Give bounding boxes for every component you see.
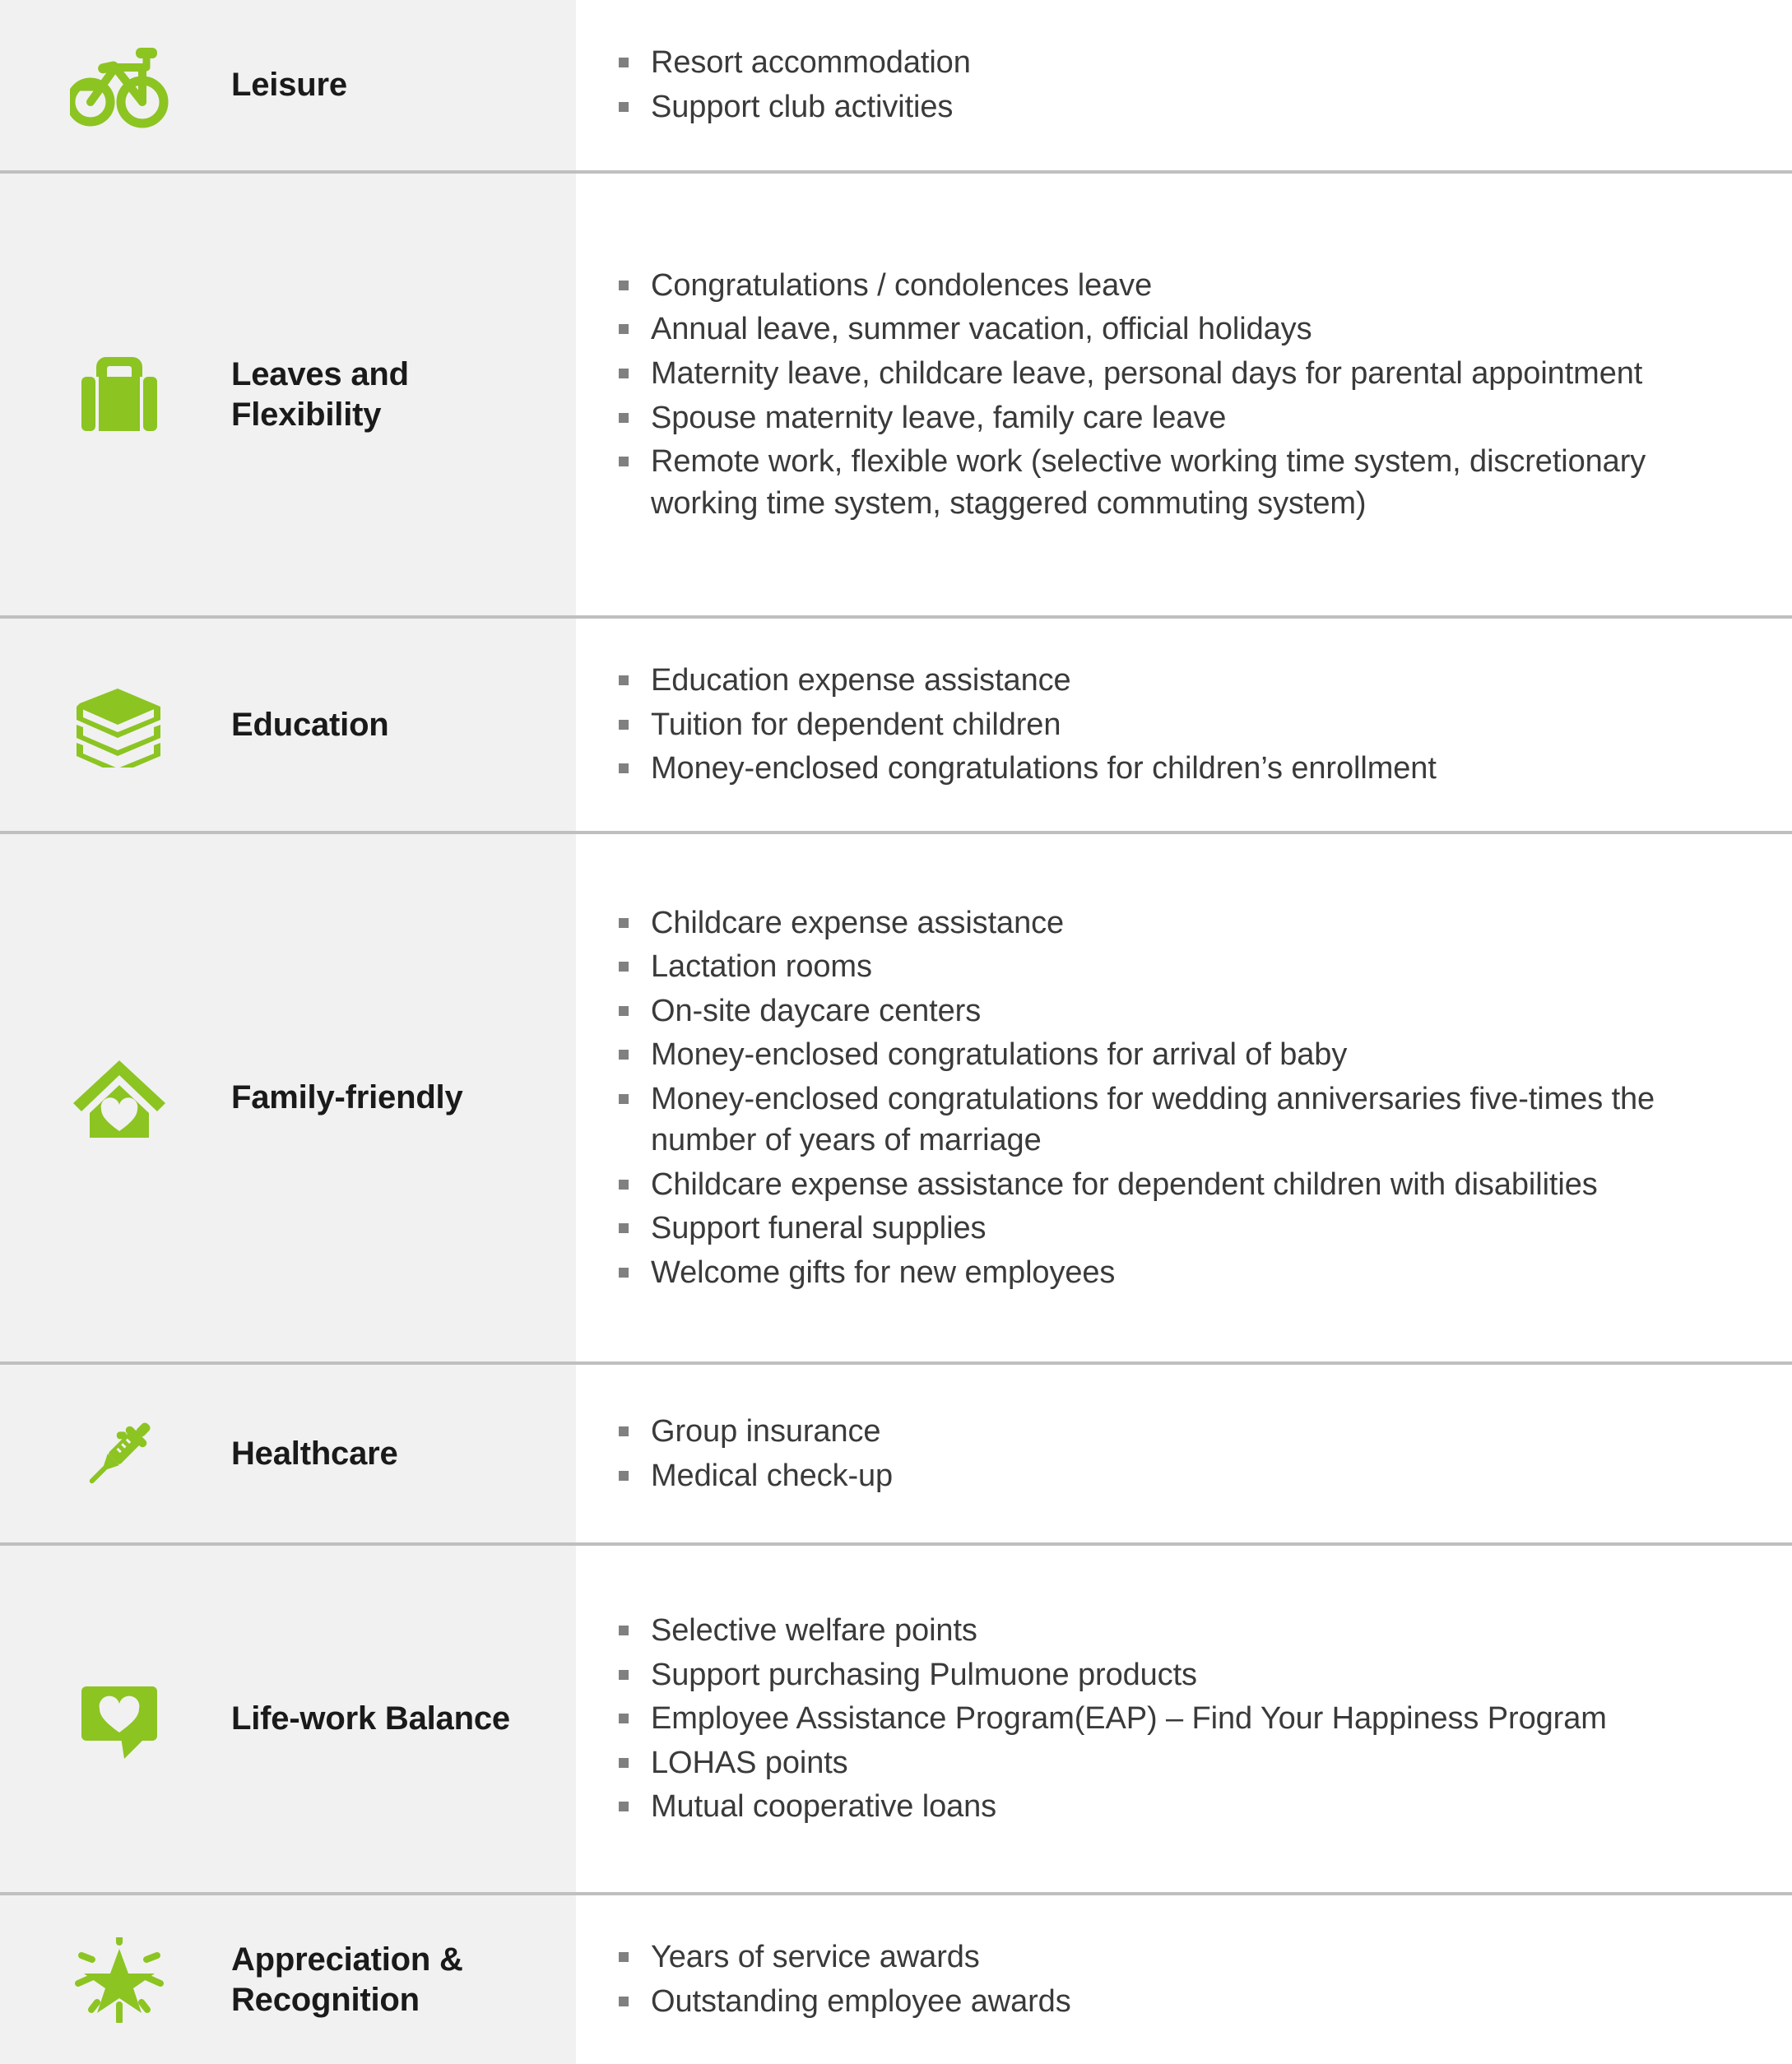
list-item: Annual leave, summer vacation, official … xyxy=(619,308,1759,350)
row-items-cell: Resort accommodation Support club activi… xyxy=(576,0,1792,170)
list-item: Employee Assistance Program(EAP) – Find … xyxy=(619,1698,1759,1740)
row-category-cell: Healthcare xyxy=(0,1365,576,1542)
list-item: Congratulations / condolences leave xyxy=(619,265,1759,307)
list-item: Support funeral supplies xyxy=(619,1208,1759,1250)
category-label: Leaves and Flexibility xyxy=(193,355,522,435)
row-items-cell: Group insurance Medical check-up xyxy=(576,1365,1792,1542)
category-label: Education xyxy=(193,705,389,745)
category-label: Healthcare xyxy=(193,1434,398,1474)
list-item: Maternity leave, childcare leave, person… xyxy=(619,353,1759,395)
list-item: Support purchasing Pulmuone products xyxy=(619,1654,1759,1696)
list-item: Spouse maternity leave, family care leav… xyxy=(619,397,1759,439)
list-item: Childcare expense assistance xyxy=(619,902,1759,944)
list-item: Selective welfare points xyxy=(619,1610,1759,1652)
list-item: Remote work, flexible work (selective wo… xyxy=(619,441,1759,524)
list-item: Medical check-up xyxy=(619,1455,1759,1497)
list-item: Group insurance xyxy=(619,1411,1759,1453)
table-row: Healthcare Group insurance Medical check… xyxy=(0,1365,1792,1546)
category-label: Life-work Balance xyxy=(193,1699,510,1739)
benefit-list: Childcare expense assistance Lactation r… xyxy=(619,902,1759,1294)
suitcase-icon xyxy=(45,352,193,438)
list-item: Outstanding employee awards xyxy=(619,1981,1759,2023)
speech-bubble-heart-icon xyxy=(45,1677,193,1762)
benefit-list: Resort accommodation Support club activi… xyxy=(619,42,1759,128)
benefit-list: Selective welfare points Support purchas… xyxy=(619,1610,1759,1828)
list-item: Resort accommodation xyxy=(619,42,1759,84)
list-item: Money-enclosed congratulations for weddi… xyxy=(619,1078,1759,1162)
benefit-list: Education expense assistance Tuition for… xyxy=(619,660,1759,790)
table-row: Life-work Balance Selective welfare poin… xyxy=(0,1546,1792,1895)
list-item: Tuition for dependent children xyxy=(619,704,1759,746)
row-category-cell: Life-work Balance xyxy=(0,1546,576,1892)
list-item: On-site daycare centers xyxy=(619,990,1759,1032)
row-category-cell: Family-friendly xyxy=(0,834,576,1361)
list-item: Mutual cooperative loans xyxy=(619,1786,1759,1828)
benefit-list: Group insurance Medical check-up xyxy=(619,1411,1759,1496)
benefit-list: Congratulations / condolences leave Annu… xyxy=(619,265,1759,524)
category-label: Leisure xyxy=(193,65,347,105)
row-items-cell: Selective welfare points Support purchas… xyxy=(576,1546,1792,1892)
books-icon xyxy=(45,682,193,768)
list-item: Welcome gifts for new employees xyxy=(619,1252,1759,1294)
row-items-cell: Education expense assistance Tuition for… xyxy=(576,619,1792,831)
row-items-cell: Childcare expense assistance Lactation r… xyxy=(576,834,1792,1361)
table-row: Appreciation & Recognition Years of serv… xyxy=(0,1895,1792,2064)
row-category-cell: Education xyxy=(0,619,576,831)
list-item: Education expense assistance xyxy=(619,660,1759,702)
category-label: Appreciation & Recognition xyxy=(193,1940,522,2020)
table-row: Family-friendly Childcare expense assist… xyxy=(0,834,1792,1365)
row-category-cell: Appreciation & Recognition xyxy=(0,1895,576,2064)
list-item: Money-enclosed congratulations for arriv… xyxy=(619,1034,1759,1076)
table-row: Education Education expense assistance T… xyxy=(0,619,1792,834)
row-items-cell: Years of service awards Outstanding empl… xyxy=(576,1895,1792,2064)
row-category-cell: Leisure xyxy=(0,0,576,170)
table-row: Leaves and Flexibility Congratulations /… xyxy=(0,174,1792,619)
list-item: Lactation rooms xyxy=(619,946,1759,988)
house-heart-icon xyxy=(45,1055,193,1141)
star-sparkle-icon xyxy=(45,1937,193,2023)
list-item: Support club activities xyxy=(619,86,1759,128)
list-item: Years of service awards xyxy=(619,1936,1759,1978)
syringe-icon xyxy=(45,1411,193,1496)
list-item: Money-enclosed congratulations for child… xyxy=(619,748,1759,790)
category-label: Family-friendly xyxy=(193,1078,463,1118)
benefit-list: Years of service awards Outstanding empl… xyxy=(619,1936,1759,2022)
row-category-cell: Leaves and Flexibility xyxy=(0,174,576,615)
list-item: Childcare expense assistance for depende… xyxy=(619,1164,1759,1206)
employee-benefits-table: Leisure Resort accommodation Support clu… xyxy=(0,0,1792,2064)
table-row: Leisure Resort accommodation Support clu… xyxy=(0,0,1792,174)
row-items-cell: Congratulations / condolences leave Annu… xyxy=(576,174,1792,615)
list-item: LOHAS points xyxy=(619,1742,1759,1784)
bicycle-icon xyxy=(45,43,193,128)
